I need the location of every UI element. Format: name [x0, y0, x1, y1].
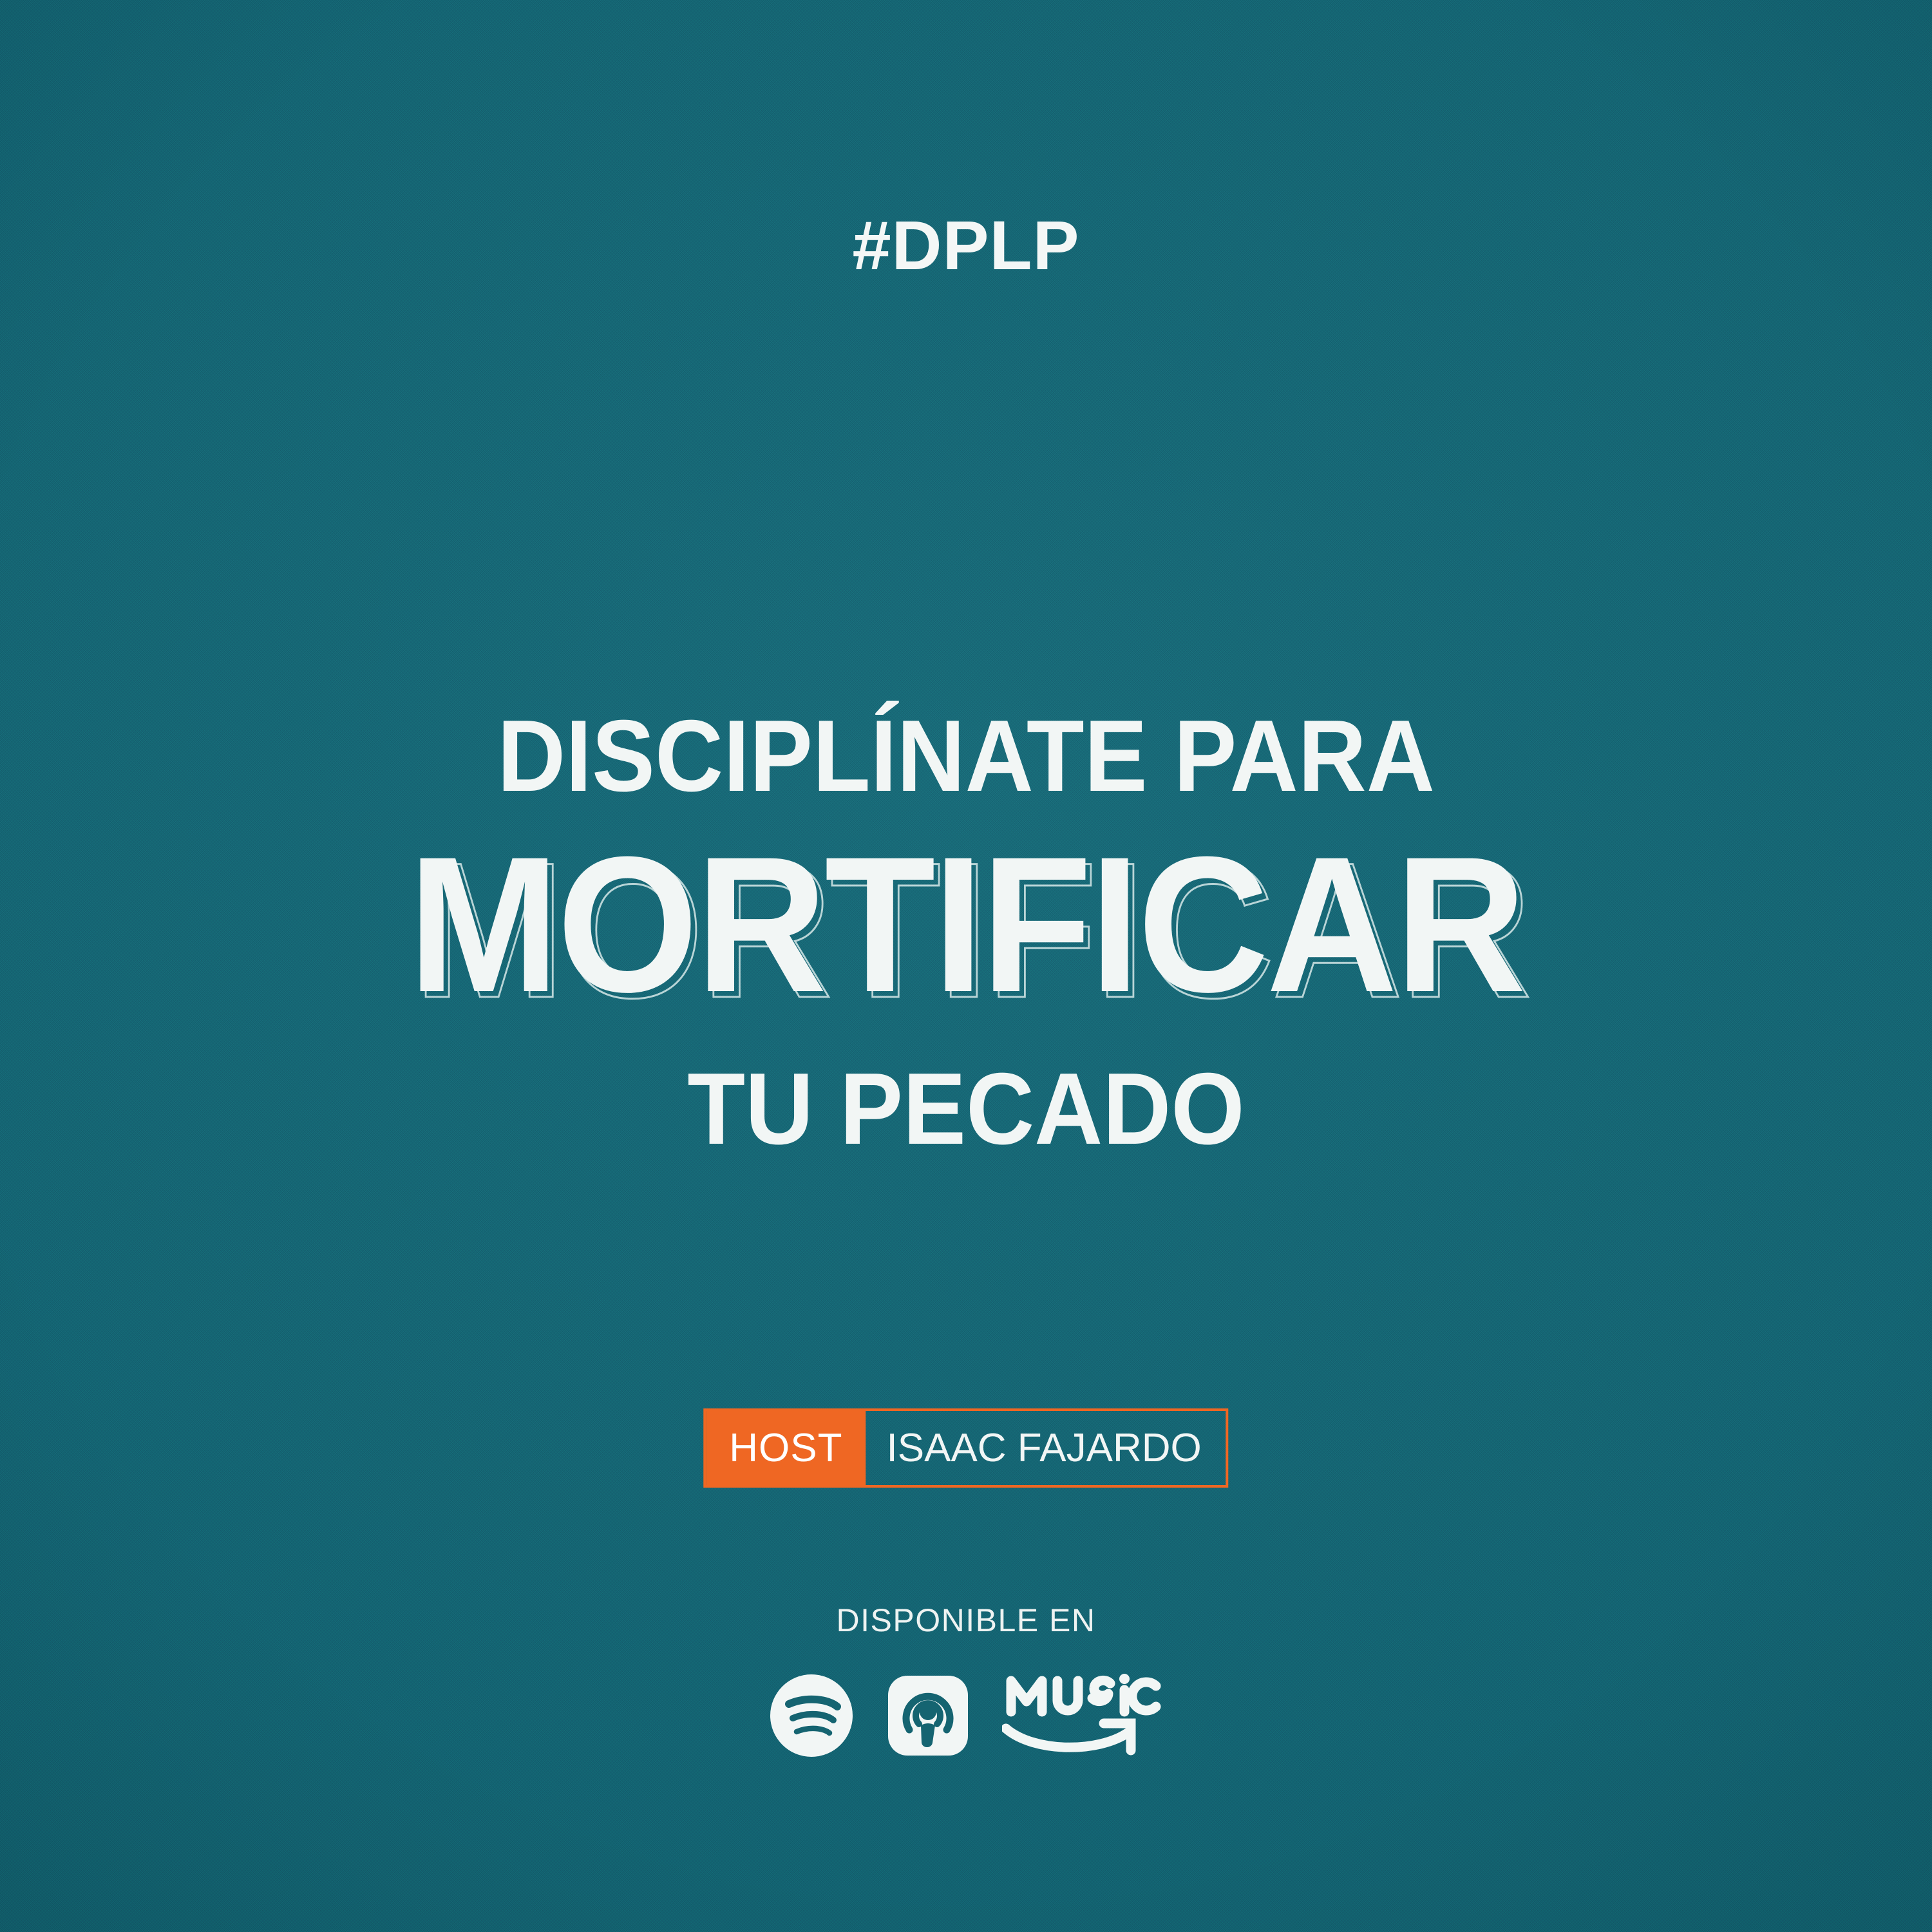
- title-block: DISCIPLÍNATE PARA MORTIFICAR MORTIFICAR …: [0, 705, 1932, 1160]
- title-line-2-wrapper: MORTIFICAR MORTIFICAR: [0, 828, 1932, 1021]
- spotify-label: Spotify: [854, 1673, 855, 1674]
- spotify-icon[interactable]: Spotify: [769, 1673, 854, 1761]
- amazon-music-wordmark: MUSIC: [1163, 1672, 1164, 1672]
- podcast-cover: #DPLP DISCIPLÍNATE PARA MORTIFICAR MORTI…: [0, 0, 1932, 1932]
- title-line-3: TU PECADO: [68, 1058, 1864, 1160]
- host-badge-label: HOST: [706, 1411, 866, 1485]
- cover-content: #DPLP DISCIPLÍNATE PARA MORTIFICAR MORTI…: [0, 0, 1932, 1932]
- availability-label: DISPONIBLE EN: [0, 1602, 1932, 1639]
- platform-icon-row: Spotify Apple Podcasts: [0, 1672, 1932, 1763]
- host-badge: HOST ISAAC FAJARDO: [703, 1408, 1228, 1488]
- title-line-1: DISCIPLÍNATE PARA: [68, 705, 1864, 807]
- title-line-2: MORTIFICAR: [58, 828, 1874, 1021]
- host-badge-name: ISAAC FAJARDO: [866, 1411, 1226, 1485]
- apple-podcasts-icon[interactable]: Apple Podcasts: [887, 1675, 969, 1759]
- hashtag-label: #DPLP: [0, 205, 1932, 285]
- amazon-music-icon[interactable]: MUSIC: [1002, 1672, 1163, 1763]
- apple-podcasts-label: Apple Podcasts: [969, 1675, 969, 1676]
